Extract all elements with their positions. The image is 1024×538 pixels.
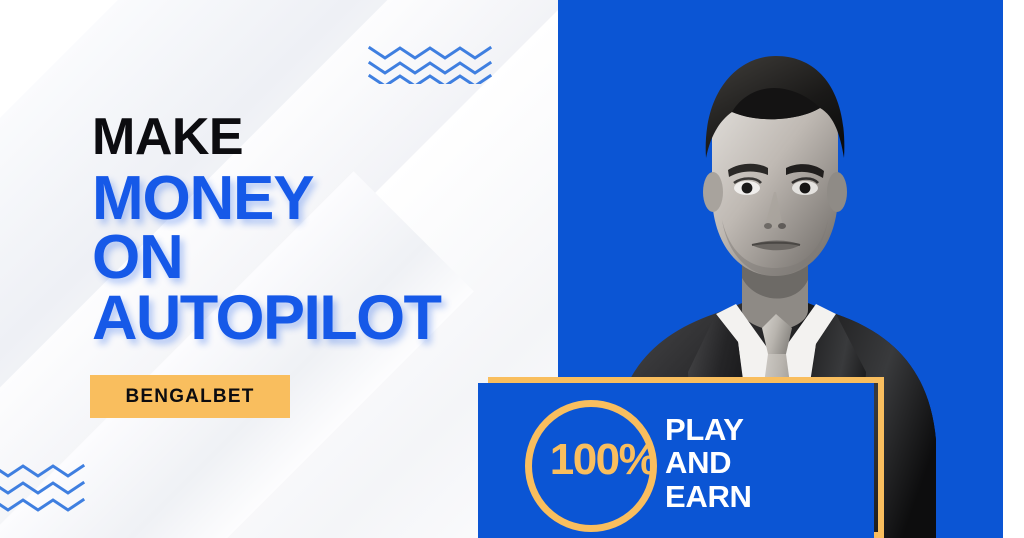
brand-badge-label: BENGALBET	[125, 386, 254, 408]
headline-line-money: MONEY	[92, 169, 542, 229]
promotional-banner: MAKE MONEY ON AUTOPILOT BENGALBET 100% P…	[0, 0, 1024, 538]
cta-line-earn: EARN	[665, 480, 752, 513]
headline-blue-lines: MONEY ON AUTOPILOT	[92, 169, 542, 349]
zigzag-decoration-top	[368, 42, 494, 89]
cta-line-and: AND	[665, 446, 752, 479]
percent-value: 100%	[523, 435, 683, 485]
headline-block: MAKE MONEY ON AUTOPILOT	[92, 112, 542, 348]
brand-badge: BENGALBET	[90, 375, 290, 418]
headline-line-make: MAKE	[92, 112, 542, 163]
cta-card: 100% PLAY AND EARN	[478, 383, 874, 538]
cta-text-block: PLAY AND EARN	[665, 413, 752, 513]
zigzag-decoration-bottom	[0, 462, 110, 521]
right-margin-strip	[1003, 0, 1024, 538]
headline-line-autopilot: AUTOPILOT	[92, 288, 542, 348]
headline-line-on: ON	[92, 228, 542, 288]
cta-line-play: PLAY	[665, 413, 752, 446]
